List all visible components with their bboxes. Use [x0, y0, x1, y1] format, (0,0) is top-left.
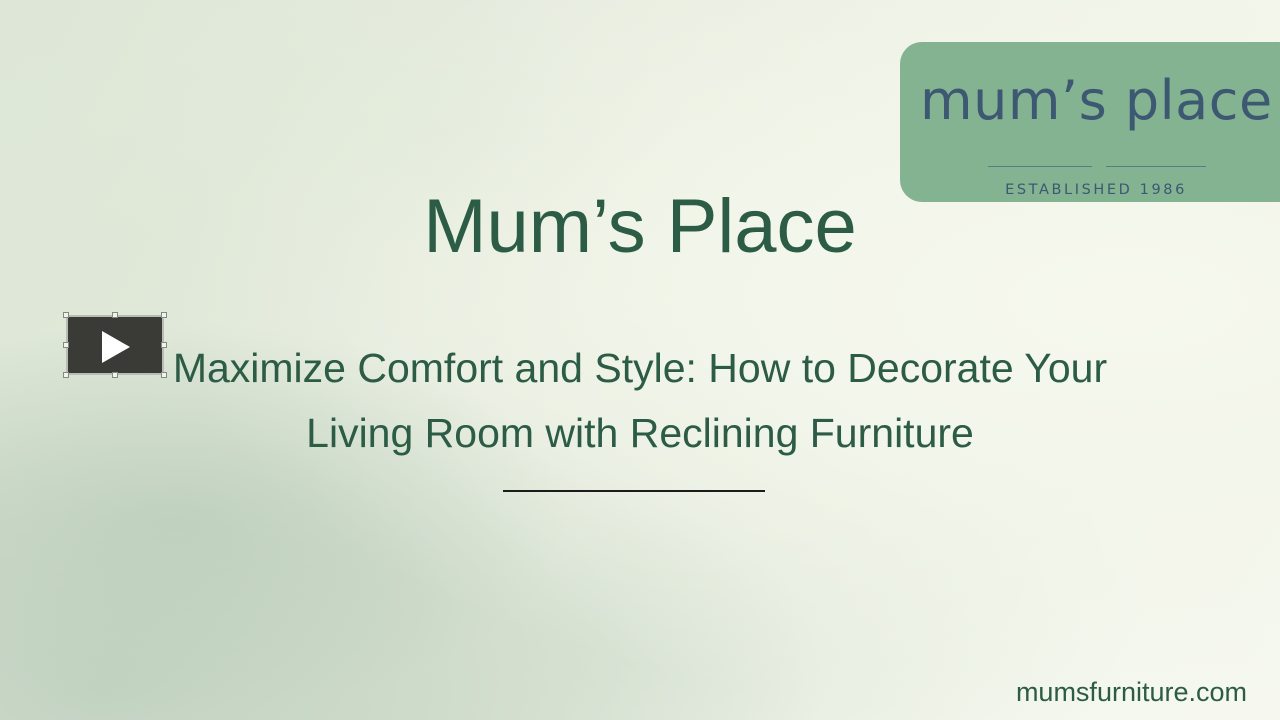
resize-handle-middle-right[interactable]	[161, 342, 167, 348]
brand-underline-left	[988, 166, 1092, 167]
brand-underline-rules	[988, 166, 1206, 167]
brand-underline-right	[1106, 166, 1206, 167]
resize-handle-middle-left[interactable]	[63, 342, 69, 348]
resize-handle-bottom-center[interactable]	[112, 372, 118, 378]
video-frame[interactable]	[66, 315, 164, 375]
resize-handle-bottom-left[interactable]	[63, 372, 69, 378]
slide-title: Mum’s Place	[0, 183, 1280, 271]
slide-subtitle-line-1: Maximize Comfort and Style: How to Decor…	[105, 336, 1175, 401]
video-placeholder-object[interactable]	[66, 315, 164, 375]
brand-wordmark: mum’s place	[920, 72, 1272, 130]
resize-handle-bottom-right[interactable]	[161, 372, 167, 378]
slide-subtitle-line-2: Living Room with Reclining Furniture	[105, 401, 1175, 466]
slide-subtitle: Maximize Comfort and Style: How to Decor…	[105, 336, 1175, 466]
resize-handle-top-right[interactable]	[161, 312, 167, 318]
play-icon[interactable]	[102, 331, 130, 363]
footer-website-url: mumsfurniture.com	[1016, 676, 1247, 708]
presentation-slide: mum’s place ESTABLISHED 1986 Mum’s Place…	[0, 0, 1280, 720]
resize-handle-top-center[interactable]	[112, 312, 118, 318]
brand-logo-card: mum’s place ESTABLISHED 1986	[900, 42, 1280, 202]
resize-handle-top-left[interactable]	[63, 312, 69, 318]
title-divider-rule	[503, 490, 765, 492]
